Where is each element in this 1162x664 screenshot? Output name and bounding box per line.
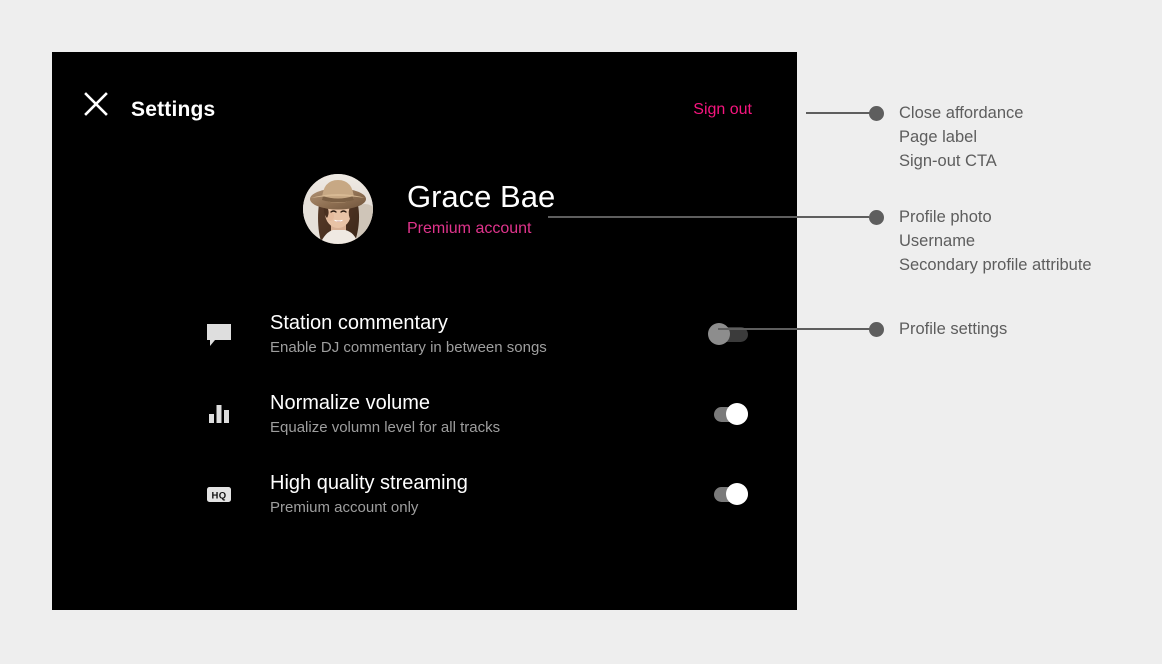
annotation-leader-line (806, 112, 874, 114)
annotation-line: Profile settings (899, 317, 1007, 341)
annotation-text-block: Close affordance Page label Sign-out CTA (899, 101, 1023, 173)
settings-row-normalize-volume[interactable]: Normalize volume Equalize volumn level f… (52, 374, 797, 454)
annotation-line: Username (899, 229, 1092, 253)
settings-row-high-quality-streaming[interactable]: HQ High quality streaming Premium accoun… (52, 454, 797, 534)
annotation-settings: Profile settings (718, 322, 1148, 352)
annotation-profile: Profile photo Username Secondary profile… (548, 210, 1148, 290)
svg-text:HQ: HQ (211, 491, 226, 502)
annotation-app-bar: Close affordance Page label Sign-out CTA (806, 106, 1146, 186)
equalizer-bars-icon (204, 399, 234, 429)
annotation-dot (869, 106, 884, 121)
profile-block: Grace Bae Premium account (303, 174, 555, 244)
settings-panel: Settings Sign out (52, 52, 797, 610)
annotation-dot (869, 210, 884, 225)
annotation-line: Sign-out CTA (899, 149, 1023, 173)
settings-row-station-commentary[interactable]: Station commentary Enable DJ commentary … (52, 294, 797, 374)
annotation-line: Close affordance (899, 101, 1023, 125)
close-icon[interactable] (78, 86, 114, 122)
toggle-knob (726, 403, 748, 425)
annotation-leader-line (718, 328, 874, 330)
profile-name: Grace Bae (407, 180, 555, 213)
speech-bubble-icon (204, 319, 234, 349)
app-bar: Settings Sign out (52, 52, 797, 170)
sign-out-button[interactable]: Sign out (693, 101, 752, 119)
avatar[interactable] (303, 174, 373, 244)
toggle-high-quality-streaming[interactable] (708, 483, 748, 505)
annotation-text-block: Profile photo Username Secondary profile… (899, 205, 1092, 277)
annotation-dot (869, 322, 884, 337)
settings-list: Station commentary Enable DJ commentary … (52, 294, 797, 534)
annotation-line: Profile photo (899, 205, 1092, 229)
toggle-normalize-volume[interactable] (708, 403, 748, 425)
profile-attribute: Premium account (407, 220, 555, 238)
page-title: Settings (131, 98, 215, 122)
annotation-line: Page label (899, 125, 1023, 149)
toggle-knob (726, 483, 748, 505)
profile-text: Grace Bae Premium account (407, 180, 555, 238)
hq-badge-icon: HQ (204, 479, 234, 509)
annotation-text-block: Profile settings (899, 317, 1007, 341)
annotation-line: Secondary profile attribute (899, 253, 1092, 277)
annotation-leader-line (548, 216, 869, 218)
